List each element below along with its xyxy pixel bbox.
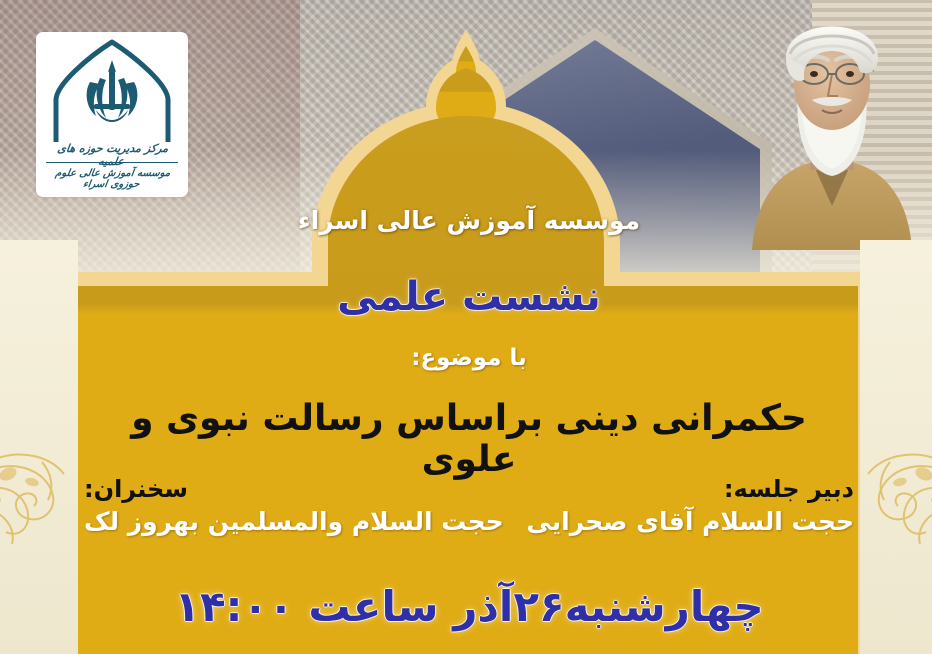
- institution-logo: مرکز مدیریت حوزه های علمیه موسسه آموزش ع…: [36, 32, 188, 197]
- page-title: حکمرانی دینی براساس رسالت نبوی و علوی: [78, 398, 860, 480]
- participants-row: دبیر جلسه: حجت السلام آقای صحرایی سخنران…: [78, 475, 860, 536]
- logo-text-center: مرکز مدیریت حوزه های علمیه: [42, 142, 182, 168]
- left-margin-band: [0, 240, 78, 654]
- institute-header: موسسه آموزش عالی اسراء: [78, 206, 860, 235]
- iran-emblem-icon: [50, 38, 174, 146]
- event-type-title: نشست علمی: [78, 274, 860, 320]
- event-poster: مرکز مدیریت حوزه های علمیه موسسه آموزش ع…: [0, 0, 932, 654]
- subject-label: با موضوع:: [78, 345, 860, 371]
- moderator-block: دبیر جلسه: حجت السلام آقای صحرایی: [526, 475, 854, 536]
- event-datetime: چهارشنبه۲۶آذر ساعت ۱۴:۰۰: [78, 582, 860, 631]
- logo-text-institute: موسسه آموزش عالی علوم حوزوی اسراء: [38, 168, 185, 190]
- logo-divider: [46, 162, 178, 163]
- poster-content: موسسه آموزش عالی اسراء نشست علمی با موضو…: [78, 190, 860, 654]
- speaker-name: حجت السلام والمسلمین بهروز لک: [84, 507, 504, 536]
- right-margin-band: [860, 240, 932, 654]
- speaker-role-label: سخنران:: [84, 475, 504, 503]
- moderator-role-label: دبیر جلسه:: [526, 475, 854, 503]
- moderator-name: حجت السلام آقای صحرایی: [526, 507, 854, 536]
- speaker-block: سخنران: حجت السلام والمسلمین بهروز لک: [84, 475, 504, 536]
